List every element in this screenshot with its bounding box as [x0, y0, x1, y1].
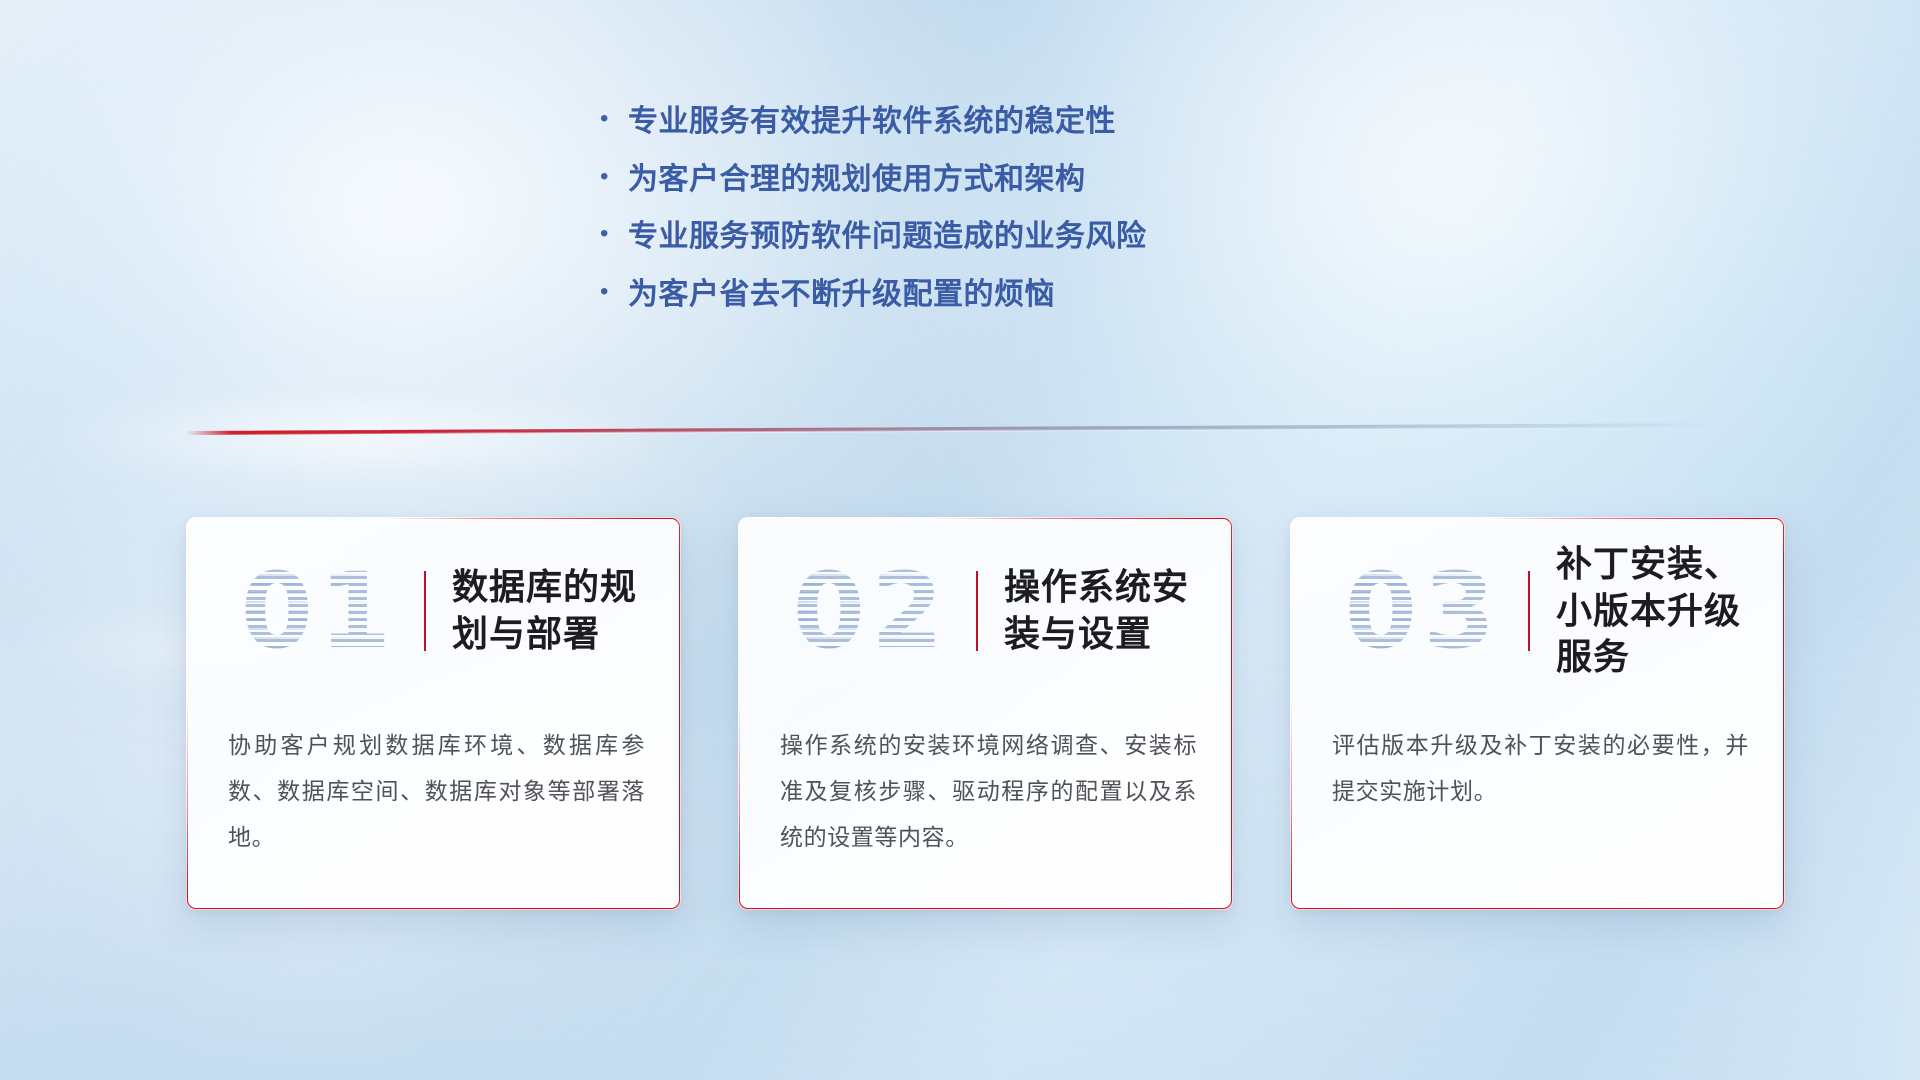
card-number-watermark: 02 02 — [766, 556, 976, 666]
bullet-text: 为客户合理的规划使用方式和架构 — [628, 162, 1086, 199]
feature-card-03[interactable]: 03 03 补丁安装、小版本升级服务 评估版本升级及补丁安装的必要性，并提交实施… — [1290, 517, 1785, 910]
bullet-text: 为客户省去不断升级配置的烦恼 — [628, 277, 1055, 314]
bullet-dot-icon: • — [600, 222, 628, 246]
card-title: 补丁安装、小版本升级服务 — [1556, 541, 1785, 681]
card-number-watermark: 03 03 — [1318, 556, 1528, 666]
feature-card-01[interactable]: 01 01 数据库的规划与部署 协助客户规划数据库环境、数据库参数、数据库空间、… — [186, 517, 681, 910]
card-number-striped-overlay: 01 — [214, 556, 424, 666]
card-title-rule — [424, 571, 426, 651]
card-number-watermark: 01 01 — [214, 556, 424, 666]
feature-card-group: 01 01 数据库的规划与部署 协助客户规划数据库环境、数据库参数、数据库空间、… — [186, 517, 1785, 910]
card-header: 02 02 操作系统安装与设置 — [738, 517, 1233, 705]
list-item: • 专业服务有效提升软件系统的稳定性 — [600, 104, 1320, 141]
card-body-text: 协助客户规划数据库环境、数据库参数、数据库空间、数据库对象等部署落地。 — [228, 722, 645, 860]
bullet-text: 专业服务预防软件问题造成的业务风险 — [628, 219, 1147, 256]
card-title: 数据库的规划与部署 — [452, 564, 681, 658]
list-item: • 为客户合理的规划使用方式和架构 — [600, 162, 1320, 199]
card-header: 01 01 数据库的规划与部署 — [186, 517, 681, 705]
feature-card-02[interactable]: 02 02 操作系统安装与设置 操作系统的安装环境网络调查、安装标准及复核步骤、… — [738, 517, 1233, 910]
list-item: • 为客户省去不断升级配置的烦恼 — [600, 277, 1320, 314]
bullet-text: 专业服务有效提升软件系统的稳定性 — [628, 104, 1116, 141]
bullet-dot-icon: • — [600, 280, 628, 304]
section-divider — [186, 428, 1718, 438]
bullet-dot-icon: • — [600, 165, 628, 189]
list-item: • 专业服务预防软件问题造成的业务风险 — [600, 219, 1320, 256]
card-title-rule — [1528, 571, 1530, 651]
bullet-list: • 专业服务有效提升软件系统的稳定性 • 为客户合理的规划使用方式和架构 • 专… — [0, 104, 1920, 334]
card-title-rule — [976, 571, 978, 651]
card-number-striped-overlay: 03 — [1318, 556, 1528, 666]
card-number-striped-overlay: 02 — [766, 556, 976, 666]
card-body-text: 操作系统的安装环境网络调查、安装标准及复核步骤、驱动程序的配置以及系统的设置等内… — [780, 722, 1197, 860]
card-header: 03 03 补丁安装、小版本升级服务 — [1290, 517, 1785, 705]
card-title: 操作系统安装与设置 — [1004, 564, 1233, 658]
card-body-text: 评估版本升级及补丁安装的必要性，并提交实施计划。 — [1332, 722, 1749, 814]
bullet-dot-icon: • — [600, 107, 628, 131]
